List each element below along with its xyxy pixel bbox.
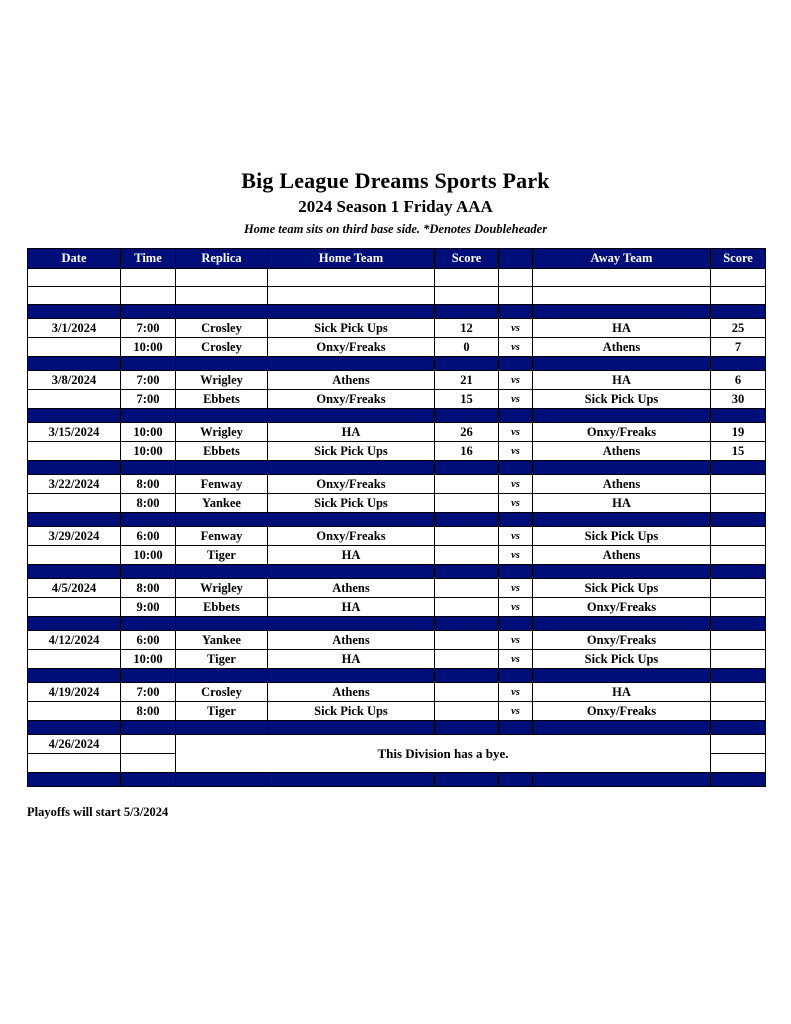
column-header-date: Date: [28, 249, 121, 269]
table-row: 3/15/202410:00WrigleyHA26vsOnxy/Freaks19: [28, 423, 766, 442]
cell-home-team: Athens: [268, 371, 435, 390]
blank-cell: [435, 287, 499, 305]
cell-home-score: [435, 579, 499, 598]
divider-cell: [268, 669, 435, 683]
cell-time: 10:00: [121, 650, 176, 669]
cell-away-score: [711, 650, 766, 669]
blank-cell: [533, 287, 711, 305]
cell-replica: Fenway: [176, 527, 268, 546]
divider-cell: [176, 305, 268, 319]
divider-cell: [28, 409, 121, 423]
divider-cell: [435, 461, 499, 475]
cell-date: [28, 754, 121, 773]
blank-cell: [28, 287, 121, 305]
divider-cell: [499, 721, 533, 735]
cell-date: 4/5/2024: [28, 579, 121, 598]
cell-time: [121, 754, 176, 773]
cell-home-team: Onxy/Freaks: [268, 390, 435, 409]
cell-home-score: [435, 494, 499, 513]
cell-home-team: Onxy/Freaks: [268, 527, 435, 546]
divider-cell: [533, 721, 711, 735]
cell-date: 3/8/2024: [28, 371, 121, 390]
divider-cell: [176, 617, 268, 631]
cell-home-team: Onxy/Freaks: [268, 475, 435, 494]
cell-away-team: Sick Pick Ups: [533, 527, 711, 546]
divider-cell: [28, 305, 121, 319]
cell-home-score: [435, 683, 499, 702]
cell-home-team: Sick Pick Ups: [268, 702, 435, 721]
divider-cell: [499, 305, 533, 319]
cell-vs-label: vs: [499, 650, 533, 669]
divider-cell: [435, 773, 499, 787]
cell-date: [28, 650, 121, 669]
cell-away-team: HA: [533, 494, 711, 513]
blank-cell: [176, 287, 268, 305]
cell-home-team: Sick Pick Ups: [268, 494, 435, 513]
cell-time: 10:00: [121, 442, 176, 461]
divider-cell: [499, 617, 533, 631]
cell-time: 7:00: [121, 683, 176, 702]
cell-date: [28, 442, 121, 461]
divider-cell: [176, 773, 268, 787]
divider-cell: [176, 721, 268, 735]
cell-away-team: HA: [533, 371, 711, 390]
cell-home-score: [435, 598, 499, 617]
divider-cell: [121, 409, 176, 423]
column-header-replica: Replica: [176, 249, 268, 269]
divider-cell: [268, 565, 435, 579]
divider-cell: [499, 461, 533, 475]
cell-home-team: HA: [268, 598, 435, 617]
cell-date: 4/26/2024: [28, 735, 121, 754]
cell-home-score: [435, 546, 499, 565]
divider-cell: [28, 721, 121, 735]
divider-cell: [711, 617, 766, 631]
cell-home-score: 15: [435, 390, 499, 409]
divider-cell: [268, 773, 435, 787]
table-row: 10:00CrosleyOnxy/Freaks0vsAthens7: [28, 338, 766, 357]
blank-cell: [711, 287, 766, 305]
divider-cell: [435, 357, 499, 371]
cell-away-score: [711, 598, 766, 617]
cell-home-team: Athens: [268, 579, 435, 598]
cell-away-team: Onxy/Freaks: [533, 702, 711, 721]
cell-date: 3/15/2024: [28, 423, 121, 442]
blank-row: [28, 269, 766, 287]
blank-cell: [435, 269, 499, 287]
cell-replica: Tiger: [176, 650, 268, 669]
divider-cell: [711, 357, 766, 371]
cell-vs-label: vs: [499, 546, 533, 565]
cell-time: 10:00: [121, 546, 176, 565]
divider-cell: [121, 773, 176, 787]
divider-cell: [711, 513, 766, 527]
cell-away-team: Sick Pick Ups: [533, 650, 711, 669]
divider-cell: [499, 565, 533, 579]
cell-away-team: HA: [533, 683, 711, 702]
table-row: 10:00TigerHAvsSick Pick Ups: [28, 650, 766, 669]
table-row: 3/29/20246:00FenwayOnxy/FreaksvsSick Pic…: [28, 527, 766, 546]
blank-cell: [499, 287, 533, 305]
cell-away-score: 6: [711, 371, 766, 390]
cell-home-score: 21: [435, 371, 499, 390]
divider-cell: [499, 773, 533, 787]
cell-time: 6:00: [121, 631, 176, 650]
divider-cell: [533, 409, 711, 423]
cell-away-score: [711, 494, 766, 513]
section-divider-row: [28, 461, 766, 475]
cell-home-team: Onxy/Freaks: [268, 338, 435, 357]
section-divider-row: [28, 513, 766, 527]
cell-time: 8:00: [121, 702, 176, 721]
cell-date: [28, 338, 121, 357]
section-divider-row: [28, 773, 766, 787]
divider-cell: [435, 617, 499, 631]
divider-cell: [28, 357, 121, 371]
cell-home-score: 12: [435, 319, 499, 338]
cell-replica: Ebbets: [176, 598, 268, 617]
divider-cell: [711, 721, 766, 735]
cell-time: 8:00: [121, 494, 176, 513]
divider-cell: [176, 461, 268, 475]
blank-cell: [28, 269, 121, 287]
cell-date: 3/29/2024: [28, 527, 121, 546]
cell-date: [28, 494, 121, 513]
divider-cell: [121, 721, 176, 735]
cell-away-team: Onxy/Freaks: [533, 631, 711, 650]
table-row: 4/19/20247:00CrosleyAthensvsHA: [28, 683, 766, 702]
cell-away-score: 30: [711, 390, 766, 409]
cell-away-team: Sick Pick Ups: [533, 579, 711, 598]
divider-cell: [268, 721, 435, 735]
divider-cell: [121, 617, 176, 631]
divider-cell: [28, 565, 121, 579]
section-divider-row: [28, 409, 766, 423]
divider-cell: [28, 773, 121, 787]
divider-cell: [121, 461, 176, 475]
cell-date: [28, 546, 121, 565]
divider-cell: [435, 565, 499, 579]
cell-home-score: [435, 631, 499, 650]
divider-cell: [533, 513, 711, 527]
divider-cell: [499, 357, 533, 371]
cell-vs-label: vs: [499, 371, 533, 390]
divider-cell: [435, 513, 499, 527]
table-row: 3/8/20247:00WrigleyAthens21vsHA6: [28, 371, 766, 390]
cell-away-score: [711, 546, 766, 565]
cell-away-score: 19: [711, 423, 766, 442]
schedule-table: DateTimeReplicaHome TeamScoreAway TeamSc…: [27, 248, 766, 787]
cell-away-team: Onxy/Freaks: [533, 598, 711, 617]
cell-away-score: [711, 579, 766, 598]
cell-away-score: [711, 527, 766, 546]
divider-cell: [711, 461, 766, 475]
column-header-time: Time: [121, 249, 176, 269]
cell-time: 7:00: [121, 390, 176, 409]
divider-cell: [268, 305, 435, 319]
cell-time: [121, 735, 176, 754]
cell-home-score: 16: [435, 442, 499, 461]
divider-cell: [28, 513, 121, 527]
cell-vs-label: vs: [499, 423, 533, 442]
cell-away-score: [711, 754, 766, 773]
cell-home-team: HA: [268, 650, 435, 669]
bye-message: This Division has a bye.: [176, 735, 711, 773]
cell-vs-label: vs: [499, 631, 533, 650]
blank-cell: [121, 287, 176, 305]
divider-cell: [176, 565, 268, 579]
divider-cell: [435, 669, 499, 683]
cell-replica: Wrigley: [176, 579, 268, 598]
table-header-row: DateTimeReplicaHome TeamScoreAway TeamSc…: [28, 249, 766, 269]
divider-cell: [711, 669, 766, 683]
cell-time: 9:00: [121, 598, 176, 617]
cell-vs-label: vs: [499, 338, 533, 357]
page-subtitle: 2024 Season 1 Friday AAA: [0, 196, 791, 218]
table-row: 10:00EbbetsSick Pick Ups16vsAthens15: [28, 442, 766, 461]
divider-cell: [268, 409, 435, 423]
divider-cell: [176, 409, 268, 423]
cell-time: 8:00: [121, 579, 176, 598]
cell-date: 3/22/2024: [28, 475, 121, 494]
cell-away-score: [711, 702, 766, 721]
divider-cell: [121, 357, 176, 371]
cell-home-score: 26: [435, 423, 499, 442]
cell-vs-label: vs: [499, 598, 533, 617]
blank-cell: [121, 269, 176, 287]
divider-cell: [435, 721, 499, 735]
cell-time: 7:00: [121, 371, 176, 390]
cell-vs-label: vs: [499, 702, 533, 721]
cell-time: 7:00: [121, 319, 176, 338]
cell-away-score: [711, 683, 766, 702]
schedule-table-wrapper: DateTimeReplicaHome TeamScoreAway TeamSc…: [27, 248, 765, 787]
divider-cell: [711, 565, 766, 579]
cell-replica: Crosley: [176, 319, 268, 338]
cell-date: 3/1/2024: [28, 319, 121, 338]
table-row: 8:00YankeeSick Pick UpsvsHA: [28, 494, 766, 513]
divider-cell: [533, 669, 711, 683]
cell-replica: Ebbets: [176, 390, 268, 409]
divider-cell: [711, 305, 766, 319]
cell-away-score: 7: [711, 338, 766, 357]
cell-vs-label: vs: [499, 579, 533, 598]
column-header-hscore: Score: [435, 249, 499, 269]
cell-home-score: 0: [435, 338, 499, 357]
bye-row: 4/26/2024This Division has a bye.: [28, 735, 766, 754]
column-header-vs: [499, 249, 533, 269]
column-header-away: Away Team: [533, 249, 711, 269]
divider-cell: [533, 773, 711, 787]
cell-home-score: [435, 650, 499, 669]
cell-home-score: [435, 527, 499, 546]
divider-cell: [533, 461, 711, 475]
cell-time: 10:00: [121, 338, 176, 357]
cell-away-team: HA: [533, 319, 711, 338]
divider-cell: [28, 669, 121, 683]
table-row: 4/12/20246:00YankeeAthensvsOnxy/Freaks: [28, 631, 766, 650]
table-row: 3/1/20247:00CrosleySick Pick Ups12vsHA25: [28, 319, 766, 338]
cell-replica: Wrigley: [176, 423, 268, 442]
cell-vs-label: vs: [499, 683, 533, 702]
cell-away-score: [711, 735, 766, 754]
divider-cell: [268, 461, 435, 475]
section-divider-row: [28, 565, 766, 579]
blank-cell: [176, 269, 268, 287]
cell-home-score: [435, 475, 499, 494]
cell-vs-label: vs: [499, 319, 533, 338]
blank-cell: [499, 269, 533, 287]
cell-replica: Wrigley: [176, 371, 268, 390]
cell-home-score: [435, 702, 499, 721]
section-divider-row: [28, 305, 766, 319]
footer-note: Playoffs will start 5/3/2024: [27, 805, 168, 820]
cell-replica: Yankee: [176, 631, 268, 650]
cell-away-team: Onxy/Freaks: [533, 423, 711, 442]
divider-cell: [533, 565, 711, 579]
divider-cell: [121, 669, 176, 683]
divider-cell: [121, 565, 176, 579]
cell-away-team: Athens: [533, 546, 711, 565]
divider-cell: [711, 409, 766, 423]
cell-replica: Crosley: [176, 683, 268, 702]
cell-vs-label: vs: [499, 494, 533, 513]
cell-away-team: Athens: [533, 338, 711, 357]
divider-cell: [435, 409, 499, 423]
divider-cell: [711, 773, 766, 787]
cell-date: 4/19/2024: [28, 683, 121, 702]
section-divider-row: [28, 669, 766, 683]
divider-cell: [176, 357, 268, 371]
cell-time: 6:00: [121, 527, 176, 546]
column-header-ascore: Score: [711, 249, 766, 269]
divider-cell: [533, 617, 711, 631]
section-divider-row: [28, 357, 766, 371]
divider-cell: [499, 513, 533, 527]
section-divider-row: [28, 721, 766, 735]
cell-date: 4/12/2024: [28, 631, 121, 650]
divider-cell: [176, 513, 268, 527]
cell-vs-label: vs: [499, 475, 533, 494]
cell-time: 8:00: [121, 475, 176, 494]
table-row: 3/22/20248:00FenwayOnxy/FreaksvsAthens: [28, 475, 766, 494]
divider-cell: [268, 357, 435, 371]
table-row: 8:00TigerSick Pick UpsvsOnxy/Freaks: [28, 702, 766, 721]
section-divider-row: [28, 617, 766, 631]
blank-cell: [268, 287, 435, 305]
cell-away-score: 25: [711, 319, 766, 338]
divider-cell: [28, 461, 121, 475]
cell-home-team: HA: [268, 423, 435, 442]
page-note: Home team sits on third base side. *Deno…: [0, 221, 791, 238]
document-titles: Big League Dreams Sports Park 2024 Seaso…: [0, 168, 791, 238]
blank-cell: [533, 269, 711, 287]
cell-away-score: [711, 475, 766, 494]
blank-cell: [711, 269, 766, 287]
divider-cell: [499, 409, 533, 423]
divider-cell: [268, 513, 435, 527]
cell-home-team: HA: [268, 546, 435, 565]
divider-cell: [435, 305, 499, 319]
cell-date: [28, 702, 121, 721]
cell-home-team: Sick Pick Ups: [268, 442, 435, 461]
cell-vs-label: vs: [499, 442, 533, 461]
cell-home-team: Athens: [268, 631, 435, 650]
cell-away-team: Athens: [533, 475, 711, 494]
cell-replica: Tiger: [176, 702, 268, 721]
table-row: 7:00EbbetsOnxy/Freaks15vsSick Pick Ups30: [28, 390, 766, 409]
cell-replica: Fenway: [176, 475, 268, 494]
cell-home-team: Sick Pick Ups: [268, 319, 435, 338]
page-title: Big League Dreams Sports Park: [0, 168, 791, 194]
column-header-home: Home Team: [268, 249, 435, 269]
divider-cell: [176, 669, 268, 683]
divider-cell: [121, 513, 176, 527]
cell-date: [28, 390, 121, 409]
cell-home-team: Athens: [268, 683, 435, 702]
cell-away-score: [711, 631, 766, 650]
divider-cell: [121, 305, 176, 319]
divider-cell: [28, 617, 121, 631]
schedule-page: Big League Dreams Sports Park 2024 Seaso…: [0, 0, 791, 1024]
blank-row: [28, 287, 766, 305]
cell-time: 10:00: [121, 423, 176, 442]
cell-away-team: Sick Pick Ups: [533, 390, 711, 409]
cell-away-team: Athens: [533, 442, 711, 461]
cell-vs-label: vs: [499, 527, 533, 546]
divider-cell: [499, 669, 533, 683]
cell-replica: Yankee: [176, 494, 268, 513]
divider-cell: [533, 357, 711, 371]
cell-away-score: 15: [711, 442, 766, 461]
cell-replica: Ebbets: [176, 442, 268, 461]
divider-cell: [533, 305, 711, 319]
table-row: 9:00EbbetsHAvsOnxy/Freaks: [28, 598, 766, 617]
table-row: 10:00TigerHAvsAthens: [28, 546, 766, 565]
cell-replica: Tiger: [176, 546, 268, 565]
cell-date: [28, 598, 121, 617]
blank-cell: [268, 269, 435, 287]
cell-replica: Crosley: [176, 338, 268, 357]
cell-vs-label: vs: [499, 390, 533, 409]
table-row: 4/5/20248:00WrigleyAthensvsSick Pick Ups: [28, 579, 766, 598]
divider-cell: [268, 617, 435, 631]
